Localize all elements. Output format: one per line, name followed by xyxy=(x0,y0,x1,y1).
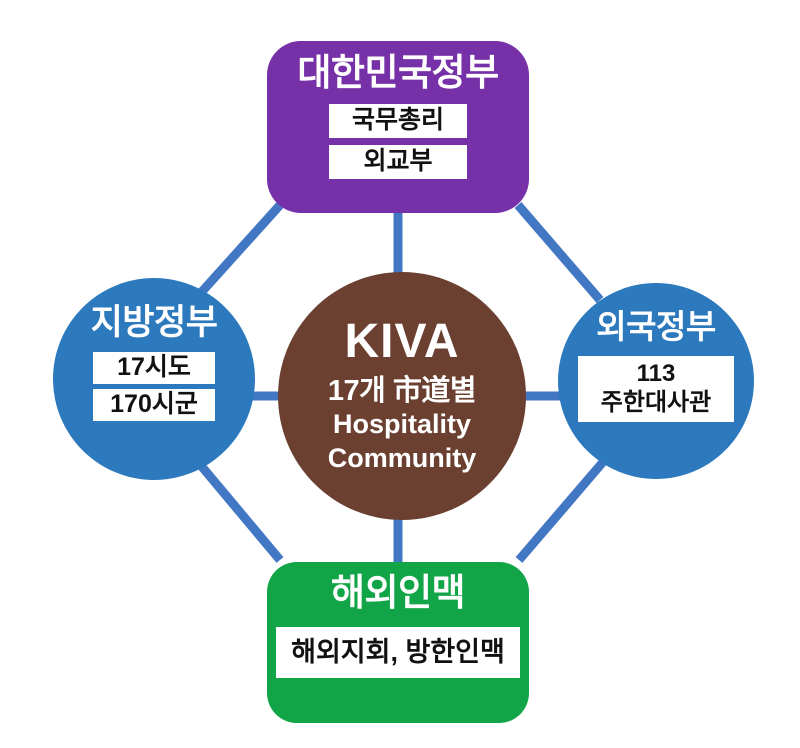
edge-local-overseas xyxy=(198,462,280,560)
diagram-canvas: 대한민국정부 국무총리 외교부 지방정부 17시도 170시군 KIVA 17개… xyxy=(0,0,800,748)
edge-government-local xyxy=(198,205,280,296)
edge-foreign-overseas xyxy=(519,462,603,560)
node-local-government-title: 지방정부 xyxy=(91,305,218,342)
node-foreign-government-title: 외국정부 xyxy=(596,310,715,345)
node-foreign-government-item-0: 113 주한대사관 xyxy=(578,356,734,422)
node-center-title: KIVA xyxy=(344,318,459,366)
node-government-item-1: 외교부 xyxy=(329,145,467,179)
node-foreign-government[interactable]: 외국정부 113 주한대사관 xyxy=(558,283,754,479)
node-overseas-network[interactable]: 해외인맥 해외지회, 방한인맥 xyxy=(267,562,529,723)
node-local-government-item-1: 170시군 xyxy=(93,389,215,421)
node-center-subtitle-hospitality: Hospitality xyxy=(333,408,471,442)
edge-government-foreign xyxy=(518,205,600,300)
node-center-subtitle-korean: 17개 市道별 xyxy=(328,375,476,408)
node-government[interactable]: 대한민국정부 국무총리 외교부 xyxy=(267,41,529,213)
node-foreign-government-item-0-line1: 113 xyxy=(637,360,676,388)
node-center-kiva[interactable]: KIVA 17개 市道별 Hospitality Community xyxy=(278,272,526,520)
node-center-subtitle-community: Community xyxy=(328,442,477,476)
node-local-government-item-0: 17시도 xyxy=(93,352,215,384)
node-government-item-0: 국무총리 xyxy=(329,104,467,138)
node-overseas-network-item-0: 해외지회, 방한인맥 xyxy=(276,627,520,678)
node-foreign-government-item-0-line2: 주한대사관 xyxy=(601,389,711,417)
node-government-title: 대한민국정부 xyxy=(297,54,498,93)
node-overseas-network-title: 해외인맥 xyxy=(331,574,465,613)
node-local-government[interactable]: 지방정부 17시도 170시군 xyxy=(53,278,255,480)
